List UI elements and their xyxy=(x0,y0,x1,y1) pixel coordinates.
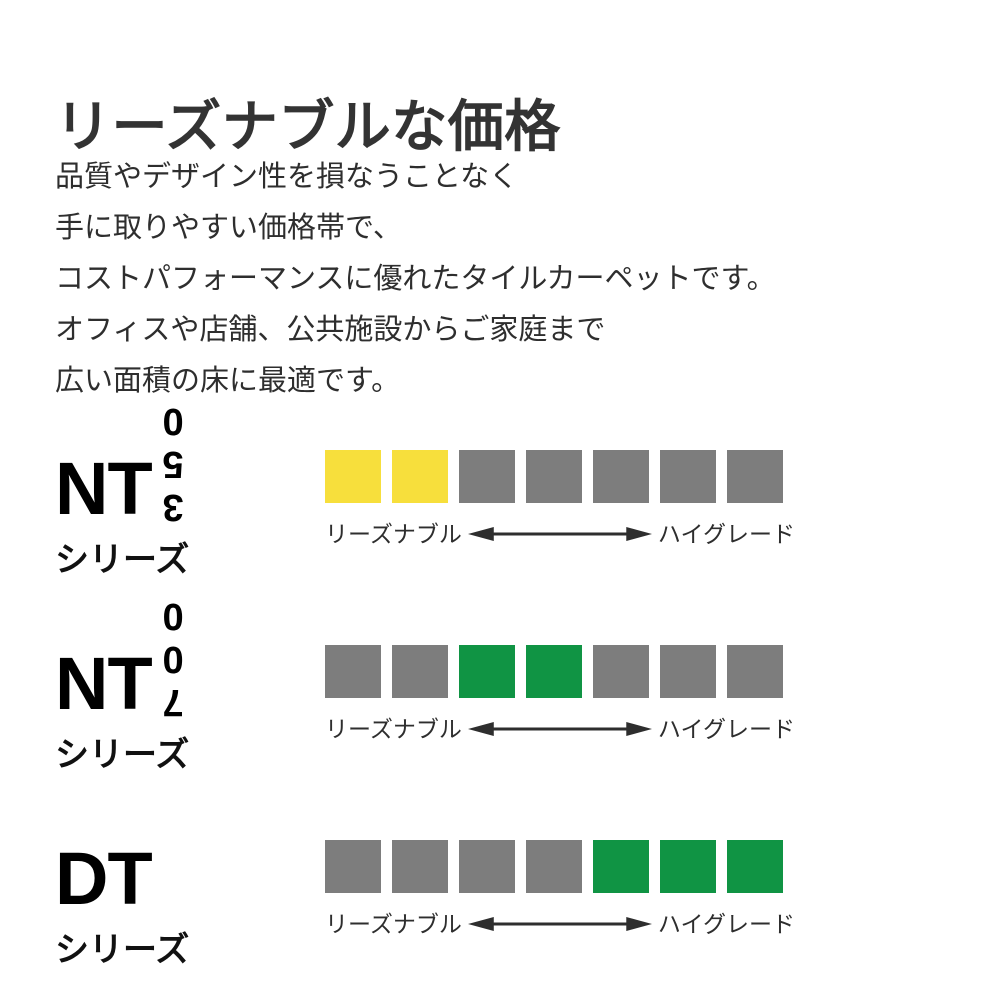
swatch-3 xyxy=(459,450,515,503)
swatch-5 xyxy=(593,840,649,893)
swatch-7 xyxy=(727,645,783,698)
series-code-number: 350 xyxy=(154,456,192,528)
swatch-4 xyxy=(526,450,582,503)
series-label-nt700: NT 700 シリーズ xyxy=(55,645,290,785)
swatch-5 xyxy=(593,645,649,698)
scale-legend: リーズナブル ハイグレード xyxy=(325,909,795,939)
series-row-nt700: NT 700 シリーズ リーズナブル xyxy=(0,645,1000,805)
swatch-strip xyxy=(325,645,795,698)
series-row-nt350: NT 350 シリーズ リーズナブル xyxy=(0,450,1000,610)
legend-high-label: ハイグレード xyxy=(658,909,795,939)
swatch-1 xyxy=(325,840,381,893)
page-root: リーズナブルな価格 品質やデザイン性を損なうことなく 手に取りやすい価格帯で、 … xyxy=(0,0,1000,1000)
series-code-nt350: NT 350 xyxy=(55,456,192,522)
series-sub-label: シリーズ xyxy=(55,532,189,581)
series-sub-label: シリーズ xyxy=(55,727,189,776)
swatch-3 xyxy=(459,645,515,698)
body-copy: 品質やデザイン性を損なうことなく 手に取りやすい価格帯で、 コストパフォーマンス… xyxy=(55,152,955,407)
swatch-strip xyxy=(325,840,795,893)
swatch-6 xyxy=(660,645,716,698)
swatch-6 xyxy=(660,840,716,893)
price-grade-scale-nt350: リーズナブル ハイグレード xyxy=(325,450,795,549)
price-grade-scale-dt: リーズナブル ハイグレード xyxy=(325,840,795,939)
series-row-dt: DT シリーズ リーズナブル xyxy=(0,840,1000,1000)
swatch-7 xyxy=(727,840,783,893)
series-code-nt700: NT 700 xyxy=(55,651,192,717)
double-arrow-horizontal-icon xyxy=(468,522,652,546)
double-arrow-horizontal-icon xyxy=(468,717,652,741)
series-code-letters: NT xyxy=(55,651,152,717)
swatch-2 xyxy=(392,840,448,893)
legend-low-label: リーズナブル xyxy=(325,714,462,744)
swatch-3 xyxy=(459,840,515,893)
series-label-dt: DT シリーズ xyxy=(55,840,290,980)
swatch-2 xyxy=(392,645,448,698)
scale-legend: リーズナブル ハイグレード xyxy=(325,519,795,549)
series-label-nt350: NT 350 シリーズ xyxy=(55,450,290,590)
legend-high-label: ハイグレード xyxy=(658,714,795,744)
body-line-2: 手に取りやすい価格帯で、 xyxy=(55,203,955,254)
legend-high-label: ハイグレード xyxy=(658,519,795,549)
body-line-4: オフィスや店舗、公共施設からご家庭まで xyxy=(55,305,955,356)
body-line-1: 品質やデザイン性を損なうことなく xyxy=(55,152,955,203)
swatch-strip xyxy=(325,450,795,503)
scale-legend: リーズナブル ハイグレード xyxy=(325,714,795,744)
swatch-4 xyxy=(526,645,582,698)
legend-low-label: リーズナブル xyxy=(325,909,462,939)
swatch-1 xyxy=(325,645,381,698)
swatch-1 xyxy=(325,450,381,503)
price-grade-scale-nt700: リーズナブル ハイグレード xyxy=(325,645,795,744)
legend-low-label: リーズナブル xyxy=(325,519,462,549)
body-line-3: コストパフォーマンスに優れたタイルカーペットです。 xyxy=(55,254,955,305)
series-code-letters: NT xyxy=(55,456,152,522)
swatch-7 xyxy=(727,450,783,503)
swatch-6 xyxy=(660,450,716,503)
series-code-dt: DT xyxy=(55,846,152,912)
swatch-5 xyxy=(593,450,649,503)
series-code-letters: DT xyxy=(55,846,152,912)
swatch-2 xyxy=(392,450,448,503)
page-title: リーズナブルな価格 xyxy=(55,98,561,157)
double-arrow-horizontal-icon xyxy=(468,912,652,936)
swatch-4 xyxy=(526,840,582,893)
series-code-number: 700 xyxy=(154,651,192,723)
series-sub-label: シリーズ xyxy=(55,922,189,971)
